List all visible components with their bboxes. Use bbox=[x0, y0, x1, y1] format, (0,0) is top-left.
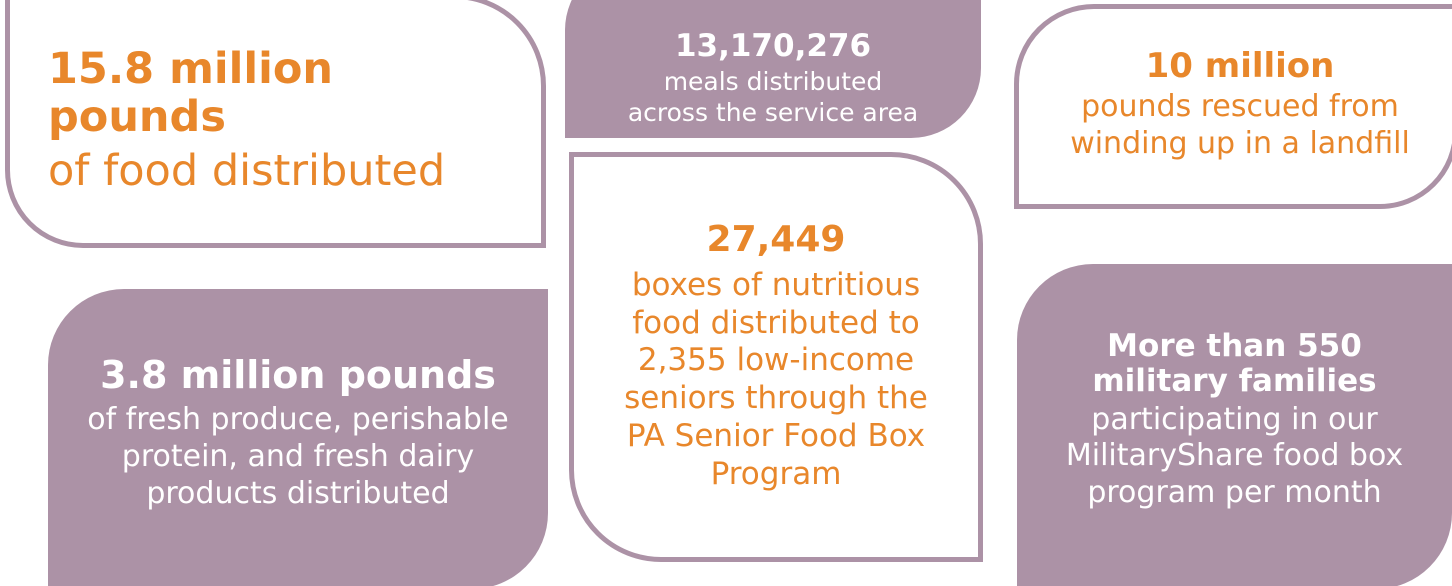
stat-headline-fresh-produce: 3.8 million pounds bbox=[100, 354, 496, 397]
stat-headline-pounds-rescued: 10 million bbox=[1146, 47, 1335, 85]
stat-headline-food-distributed: 15.8 million pounds bbox=[48, 45, 511, 141]
stat-headline-military-families: More than 550 military families bbox=[1092, 329, 1376, 398]
stat-detail-senior-boxes: boxes of nutritious food distributed to … bbox=[624, 267, 928, 494]
stat-headline-meals-distributed: 13,170,276 bbox=[675, 29, 871, 64]
stat-headline-senior-boxes: 27,449 bbox=[707, 220, 846, 260]
stat-detail-fresh-produce: of fresh produce, perishable protein, an… bbox=[87, 402, 509, 512]
stat-detail-food-distributed: of food distributed bbox=[48, 145, 445, 197]
stat-detail-military-families: participating in our MilitaryShare food … bbox=[1066, 402, 1403, 512]
stat-card-meals-distributed: 13,170,276 meals distributed across the … bbox=[565, 0, 981, 138]
stat-card-senior-boxes: 27,449 boxes of nutritious food distribu… bbox=[569, 152, 983, 562]
stat-detail-pounds-rescued: pounds rescued from winding up in a land… bbox=[1070, 89, 1410, 162]
stat-card-military-families: More than 550 military families particip… bbox=[1017, 264, 1452, 586]
stat-card-food-distributed: 15.8 million pounds of food distributed bbox=[5, 0, 546, 248]
stat-detail-meals-distributed: meals distributed across the service are… bbox=[628, 67, 918, 128]
stat-card-pounds-rescued: 10 million pounds rescued from winding u… bbox=[1014, 4, 1452, 209]
stat-card-fresh-produce: 3.8 million pounds of fresh produce, per… bbox=[48, 289, 548, 586]
infographic-canvas: 15.8 million pounds of food distributed … bbox=[0, 0, 1452, 586]
